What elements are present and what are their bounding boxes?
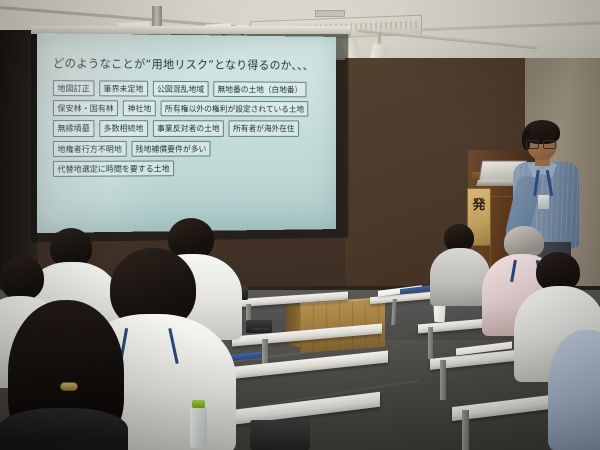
slide-row: 保安林・国有林 神社地 所有権以外の権利が設定されている土地: [53, 100, 325, 117]
slide-row: 地権者行方不明地 残地補償要件が多い: [53, 140, 325, 156]
shoulders: [430, 248, 490, 306]
slide-chip: 所有者が海外在住: [229, 121, 299, 137]
chair: [250, 420, 310, 450]
audience-member: [430, 224, 490, 300]
slide-content: どのようなことが“用地リスク”となり得るのか、、、 地図訂正 筆界未定地 公図混…: [37, 33, 336, 233]
bottle-cap: [192, 400, 205, 408]
slide-row: 地図訂正 筆界未定地 公図混乱地域 無地番の土地（白地番）: [53, 80, 325, 97]
head: [0, 256, 44, 300]
slide-chip: 多数相続地: [99, 121, 148, 137]
podium-sign-character: 発: [472, 194, 485, 213]
slide-chip: 事業反対者の土地: [153, 121, 224, 137]
slide-chip: 保安林・国有林: [53, 100, 118, 116]
slide-chip: 地権者行方不明地: [53, 141, 126, 157]
remote-device: [252, 328, 270, 332]
presenter-name-badge: [537, 194, 550, 210]
slide-chip: 地図訂正: [53, 80, 94, 96]
desk-leg: [440, 360, 446, 400]
ceiling-grill-icon: [315, 10, 345, 17]
slide-chip: 無縁墳墓: [53, 120, 94, 136]
slide-chip: 無地番の土地（白地番）: [213, 81, 306, 97]
shoulders: [548, 330, 600, 450]
audience-member: [556, 330, 600, 450]
slide-row: 無縁墳墓 多数相続地 事業反対者の土地 所有者が海外在住: [53, 120, 325, 136]
audience-member: [8, 300, 158, 450]
slide-chip: 筆界未定地: [99, 80, 148, 96]
slide-chip: 公図混乱地域: [153, 81, 209, 97]
desk-leg: [428, 327, 433, 359]
desk-leg: [462, 410, 469, 450]
slide-chip: 神社地: [123, 101, 156, 117]
glasses-icon: [526, 140, 556, 147]
lecture-room-photo: どのようなことが“用地リスク”となり得るのか、、、 地図訂正 筆界未定地 公図混…: [0, 0, 600, 450]
slide-chip: 残地補償要件が多い: [131, 140, 211, 156]
projection-screen: どのようなことが“用地リスク”となり得るのか、、、 地図訂正 筆界未定地 公図混…: [37, 33, 336, 233]
slide-chip: 所有権以外の権利が設定されている土地: [161, 101, 309, 117]
slide-title: どのようなことが“用地リスク”となり得るのか、、、: [53, 55, 325, 73]
hair-clip: [60, 382, 78, 391]
water-bottle: [190, 406, 207, 448]
slide-chip-rows: 地図訂正 筆界未定地 公図混乱地域 無地番の土地（白地番） 保安林・国有林 神社…: [53, 80, 325, 177]
shoulders: [0, 408, 128, 450]
slide-chip: 代替地選定に時間を要する土地: [53, 160, 174, 177]
slide-row: 代替地選定に時間を要する土地: [53, 160, 325, 177]
